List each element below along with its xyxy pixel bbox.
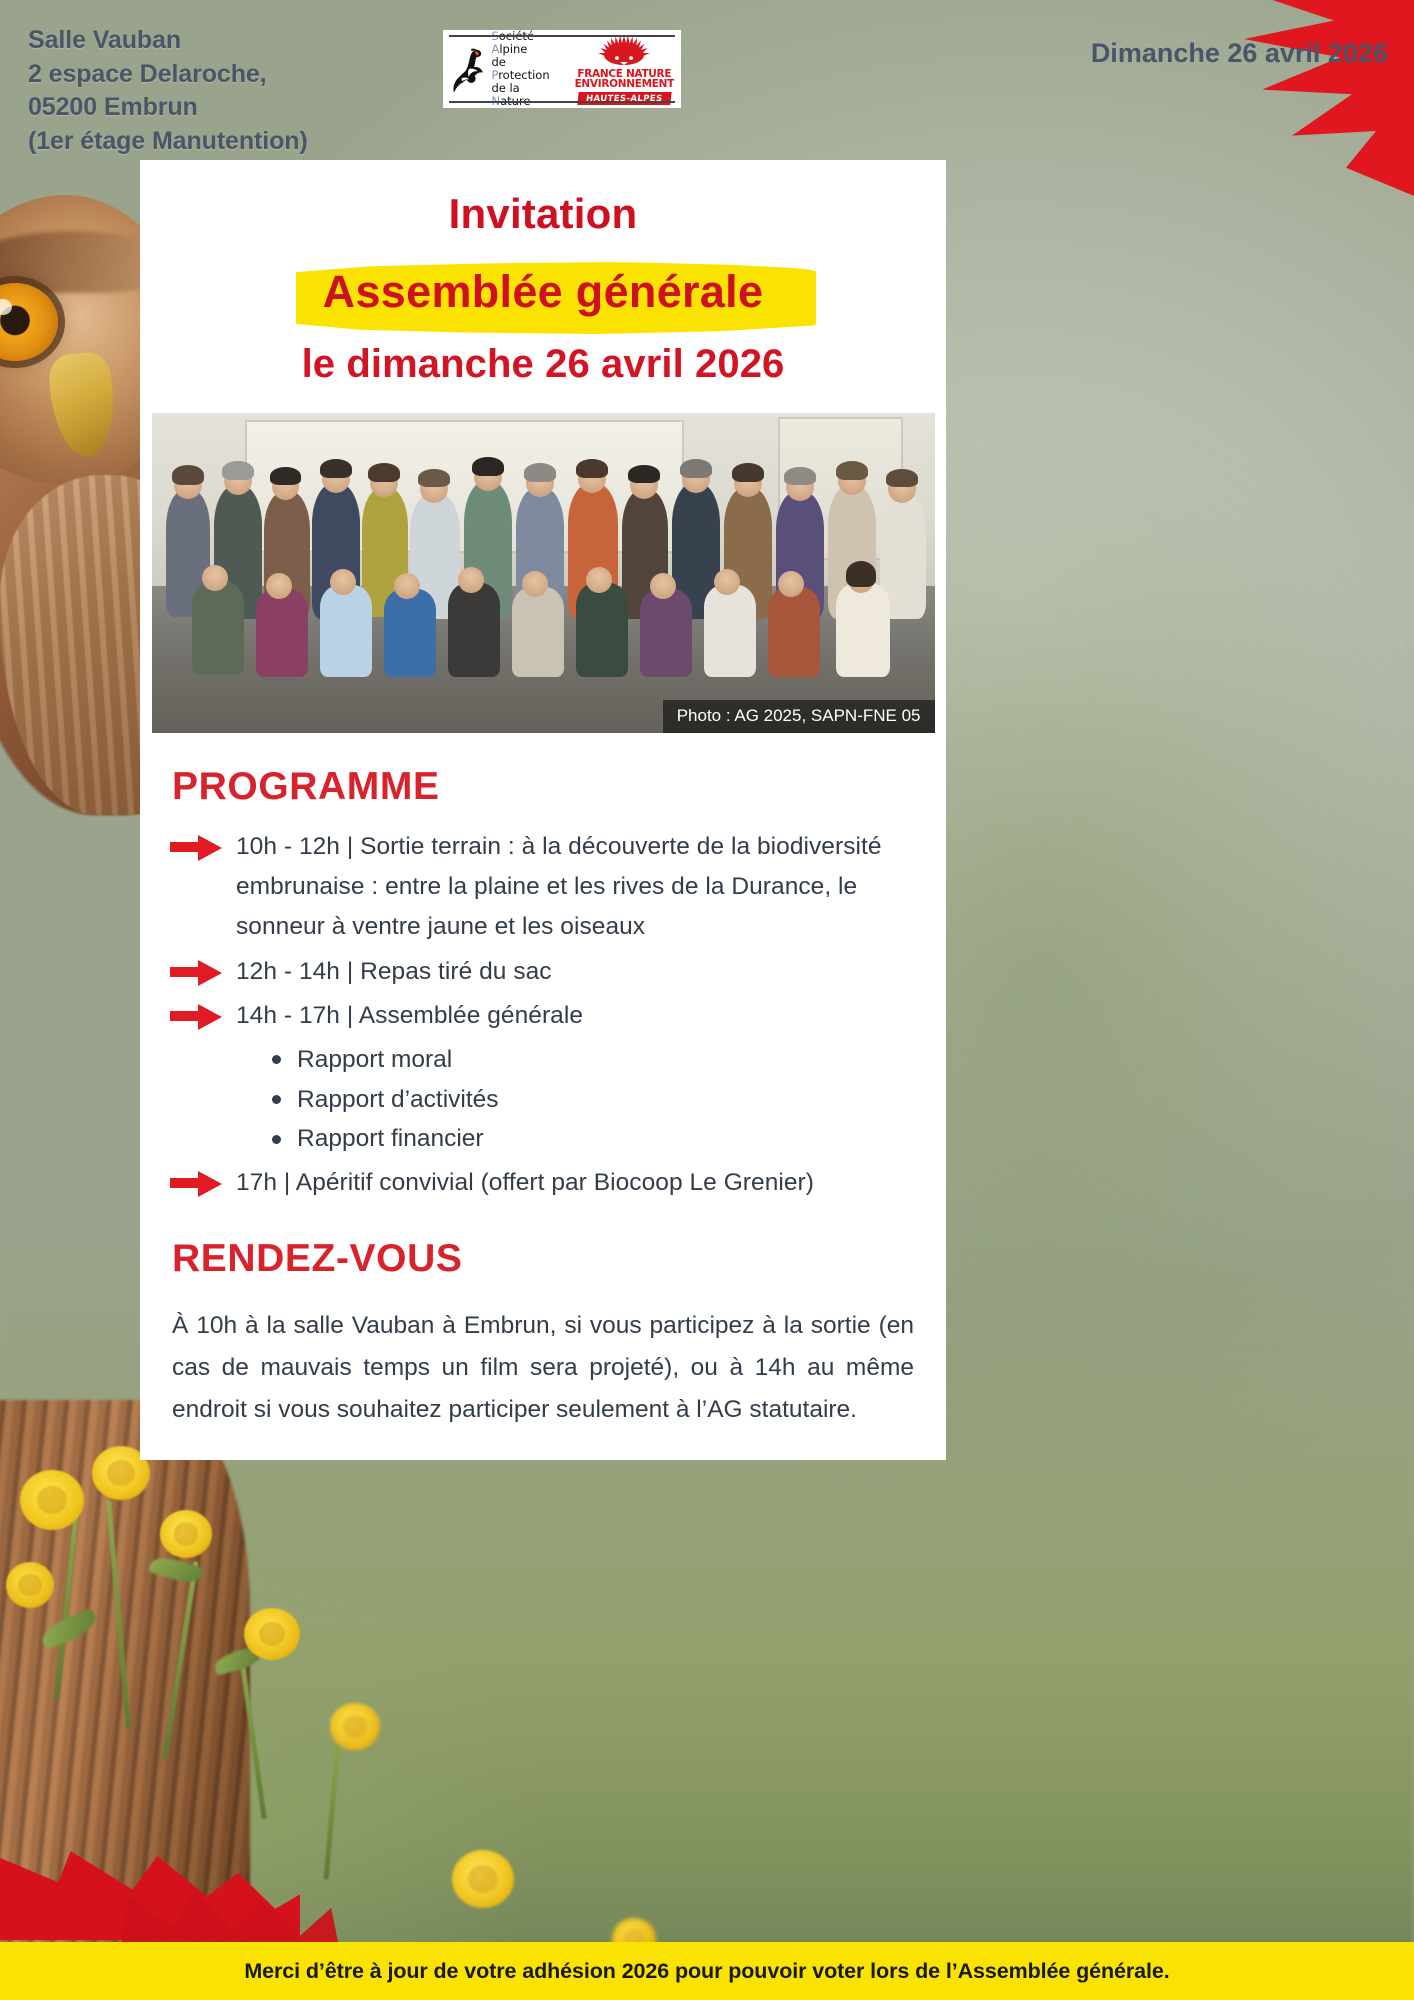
- content-card: Invitation Assemblée générale le dimanch…: [140, 160, 946, 1460]
- bullet-dot-icon: [272, 1135, 281, 1144]
- sub-list-item-label: Rapport d’activités: [297, 1080, 499, 1120]
- programme-item: 10h - 12h | Sortie terrain : à la découv…: [168, 827, 946, 948]
- address-line-2: 2 espace Delaroche,: [28, 58, 308, 92]
- programme-item-text: 14h - 17h | Assemblée générale: [236, 996, 583, 1036]
- organisation-logos: Société Alpine de Protection de la Natur…: [443, 30, 681, 108]
- fne-name-line-2: ENVIRONNEMENT: [575, 79, 674, 90]
- hedgehog-sun-icon: [595, 34, 653, 68]
- poster-root: Salle Vauban 2 espace Delaroche, 05200 E…: [0, 0, 1414, 2000]
- sapn-logo: Société Alpine de Protection de la Natur…: [452, 30, 561, 107]
- rendezvous-heading: RENDEZ-VOUS: [172, 1237, 946, 1281]
- venue-address: Salle Vauban 2 espace Delaroche, 05200 E…: [28, 24, 308, 158]
- red-arrow-icon: [168, 1002, 224, 1032]
- programme-item: 14h - 17h | Assemblée générale: [168, 996, 946, 1036]
- programme-item-text: 17h | Apéritif convivial (offert par Bio…: [236, 1163, 814, 1203]
- bullet-dot-icon: [272, 1095, 281, 1104]
- sub-list-item-label: Rapport moral: [297, 1040, 452, 1080]
- programme-item-text: 10h - 12h | Sortie terrain : à la découv…: [236, 827, 926, 948]
- sub-list-item: Rapport moral: [272, 1040, 946, 1080]
- sapn-line4-rest: ature: [500, 94, 530, 108]
- programme-heading: PROGRAMME: [172, 765, 946, 809]
- fne-wordmark: FRANCE NATURE ENVIRONNEMENT: [575, 69, 674, 90]
- title-highlight-wrapper: Assemblée générale: [140, 256, 946, 334]
- address-line-1: Salle Vauban: [28, 24, 308, 58]
- invitation-label: Invitation: [140, 190, 946, 238]
- sub-list-item: Rapport financier: [272, 1119, 946, 1159]
- event-date-subtitle: le dimanche 26 avril 2026: [140, 342, 946, 387]
- footer-message: Merci d’être à jour de votre adhésion 20…: [244, 1959, 1169, 1984]
- group-photo: Photo : AG 2025, SAPN-FNE 05: [152, 413, 935, 733]
- footer-banner: Merci d’être à jour de votre adhésion 20…: [0, 1942, 1414, 2000]
- programme-item: 12h - 14h | Repas tiré du sac: [168, 952, 946, 992]
- sapn-line4-cap: N: [491, 94, 500, 108]
- programme-item-text: 12h - 14h | Repas tiré du sac: [236, 952, 552, 992]
- red-arrow-icon: [168, 833, 224, 863]
- fne-department-badge: HAUTES-ALPES: [577, 92, 671, 105]
- bullet-dot-icon: [272, 1055, 281, 1064]
- red-arrow-icon: [168, 1169, 224, 1199]
- sub-list-item: Rapport d’activités: [272, 1080, 946, 1120]
- rendezvous-paragraph: À 10h à la salle Vauban à Embrun, si vou…: [172, 1305, 914, 1431]
- address-line-4: (1er étage Manutention): [28, 125, 308, 159]
- black-grouse-icon: [452, 43, 486, 95]
- programme-item: 17h | Apéritif convivial (offert par Bio…: [168, 1163, 946, 1203]
- red-arrow-icon: [168, 958, 224, 988]
- programme-list: 10h - 12h | Sortie terrain : à la découv…: [168, 827, 946, 1203]
- page-title: Assemblée générale: [140, 256, 946, 328]
- assemblee-sub-list: Rapport moral Rapport d’activités Rappor…: [272, 1040, 946, 1159]
- address-line-3: 05200 Embrun: [28, 91, 308, 125]
- fne-logo: FRANCE NATURE ENVIRONNEMENT HAUTES-ALPES: [575, 34, 674, 105]
- photo-crowd: [152, 413, 935, 733]
- photo-caption: Photo : AG 2025, SAPN-FNE 05: [663, 700, 935, 733]
- sapn-wordmark: Société Alpine de Protection de la Natur…: [491, 30, 560, 107]
- poster-header: Salle Vauban 2 espace Delaroche, 05200 E…: [0, 0, 1414, 160]
- event-date-header: Dimanche 26 avril 2026: [1091, 38, 1388, 69]
- sub-list-item-label: Rapport financier: [297, 1119, 484, 1159]
